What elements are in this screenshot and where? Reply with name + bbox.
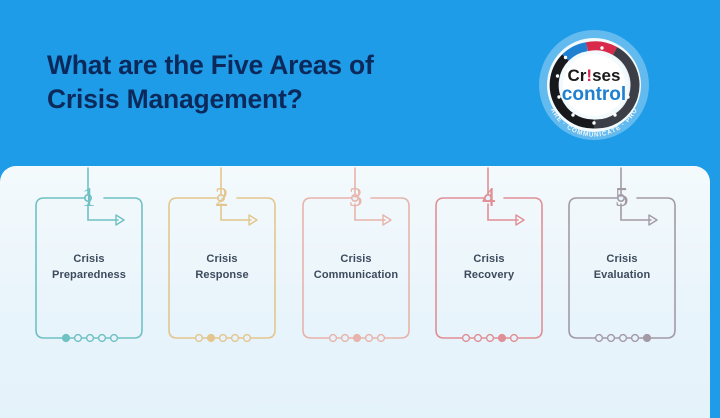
crises-control-logo: Cr!ses control PREPARE · COMMUNICATE · P… (535, 28, 653, 146)
card-label: Crisis Recovery (430, 252, 548, 284)
card-label: Crisis Communication (297, 252, 415, 284)
logo-word-bottom: control (562, 84, 626, 105)
infographic-root: What are the Five Areas of Crisis Manage… (0, 0, 720, 418)
card-crisis-evaluation[interactable]: 5 Crisis Evaluation (563, 190, 681, 345)
card-number: 3 (349, 184, 363, 211)
card-number: 5 (615, 184, 629, 211)
card-crisis-communication[interactable]: 3 Crisis Communication (297, 190, 415, 345)
card-number: 4 (482, 184, 496, 211)
card-crisis-preparedness[interactable]: 1 Crisis Preparedness (30, 190, 148, 345)
card-label: Crisis Response (163, 252, 281, 284)
page-title: What are the Five Areas of Crisis Manage… (47, 48, 487, 117)
five-areas-card-row: 1 Crisis Preparedness (0, 166, 720, 418)
card-crisis-recovery[interactable]: 4 Crisis Recovery (430, 190, 548, 345)
card-crisis-response[interactable]: 2 Crisis Response (163, 190, 281, 345)
card-number: 2 (215, 184, 229, 211)
card-label: Crisis Preparedness (30, 252, 148, 284)
card-label: Crisis Evaluation (563, 252, 681, 284)
logo-word-top: Cr!ses (568, 66, 621, 85)
card-number: 1 (82, 184, 96, 211)
